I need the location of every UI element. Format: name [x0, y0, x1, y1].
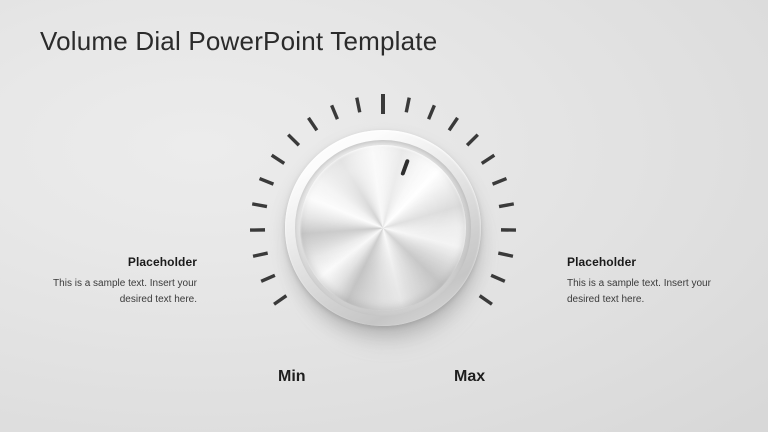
dial-tick — [429, 105, 435, 119]
dial-tick — [499, 204, 514, 207]
page-title: Volume Dial PowerPoint Template — [40, 26, 437, 57]
placeholder-right-body: This is a sample text. Insert your desir… — [567, 276, 727, 307]
dial-tick — [288, 135, 299, 146]
dial-tick — [308, 118, 316, 130]
dial-tick — [498, 253, 513, 256]
dial-tick — [274, 296, 286, 305]
dial-tick — [260, 179, 274, 185]
dial-tick — [357, 98, 360, 113]
dial-tick — [272, 155, 285, 163]
dial-tick — [332, 105, 338, 119]
placeholder-left-body: This is a sample text. Insert your desir… — [37, 276, 197, 307]
dial-max-label: Max — [454, 368, 485, 386]
dial-tick — [252, 204, 267, 207]
dial-tick — [493, 179, 507, 185]
slide-canvas: Volume Dial PowerPoint Template Min Max … — [0, 0, 768, 432]
knob-outer-bevel[interactable] — [285, 130, 481, 326]
placeholder-block-right: Placeholder This is a sample text. Inser… — [567, 255, 727, 307]
dial-tick — [449, 118, 457, 130]
dial-tick — [467, 135, 478, 146]
placeholder-block-left: Placeholder This is a sample text. Inser… — [37, 255, 197, 307]
dial-tick — [253, 253, 268, 256]
dial-tick — [482, 155, 495, 163]
knob-inner-ring — [295, 140, 471, 316]
dial-tick — [261, 275, 275, 281]
placeholder-left-title: Placeholder — [37, 255, 197, 269]
dial-tick — [406, 98, 409, 113]
knob-brushed-metal-face[interactable] — [300, 145, 466, 311]
dial-min-label: Min — [278, 368, 306, 386]
dial-tick — [480, 296, 492, 305]
knob-position-indicator — [400, 159, 410, 176]
dial-tick — [491, 275, 505, 281]
placeholder-right-title: Placeholder — [567, 255, 727, 269]
